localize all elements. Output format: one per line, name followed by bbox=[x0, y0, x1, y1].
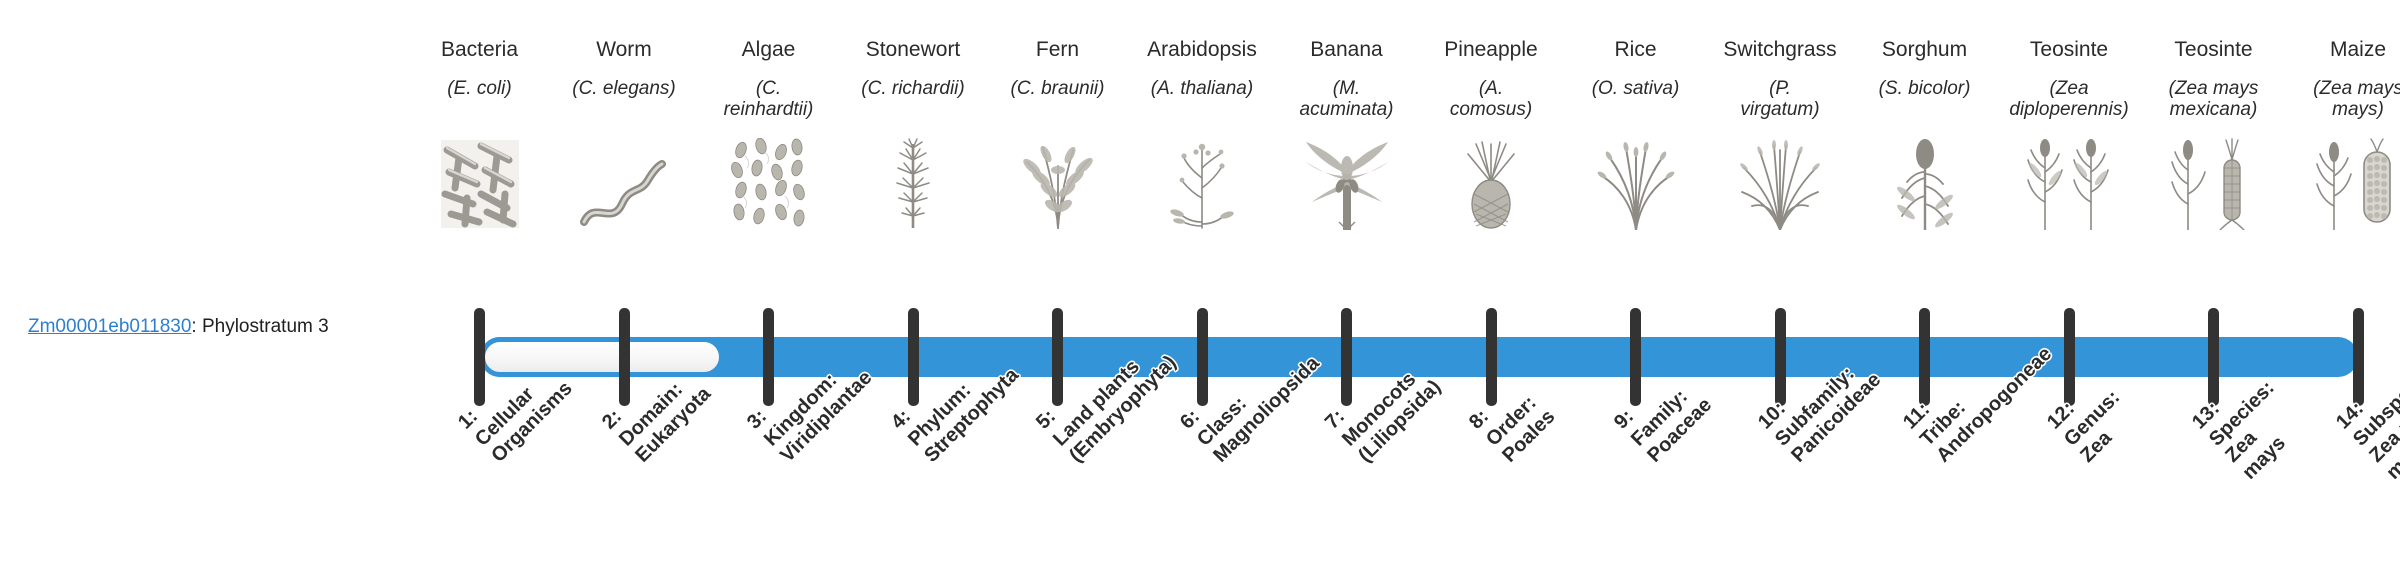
phylostratum-labels: 1:CellularOrganisms2:Domain:Eukaryota3:K… bbox=[0, 0, 2400, 580]
phylostratum-label: 14:Subspecies:Zea maysmays bbox=[2332, 335, 2400, 485]
phylostratigraphy-figure: Zm00001eb011830: Phylostratum 3 Bacteria… bbox=[0, 0, 2400, 580]
phylostratum-label: 12:Genus:Zea bbox=[2043, 369, 2142, 468]
phylostratum-label: 13:Species:Zeamays bbox=[2188, 360, 2313, 485]
phylostratum-label: 3:Kingdom:Viridiplantae bbox=[743, 333, 878, 468]
phylostratum-label: 1:CellularOrganisms bbox=[454, 344, 578, 468]
phylostratum-label: 6:Class:Magnoliopsida bbox=[1176, 319, 1325, 468]
phylostratum-label: 8:Order:Poales bbox=[1465, 372, 1561, 468]
phylostratum-label: 4:Phylum:Streptophyta bbox=[887, 331, 1024, 468]
phylostratum-label: 11:Tribe:Andropogoneae bbox=[1899, 310, 2057, 468]
phylostratum-label: 9:Family:Poaceae bbox=[1610, 361, 1717, 468]
phylostratum-label: 2:Domain:Eukaryota bbox=[598, 350, 716, 468]
phylostratum-label: 10:Subfamily:Panicoideae bbox=[1754, 335, 1887, 468]
phylostratum-label: 7:Monocots(Liliopsida) bbox=[1321, 343, 1446, 468]
phylostratum-label: 5:Land plants(Embryophyta) bbox=[1032, 318, 1182, 468]
